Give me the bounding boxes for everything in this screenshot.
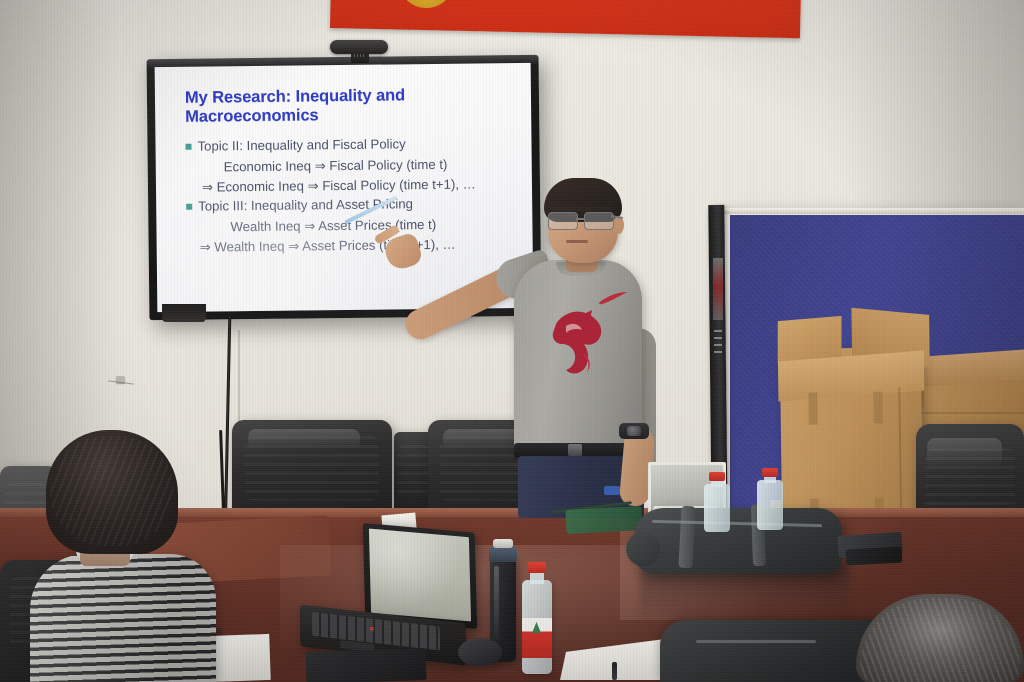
pen[interactable] — [612, 662, 617, 680]
belt-buckle — [568, 444, 582, 456]
webcam-soundbar-icon — [330, 40, 388, 54]
wsu-cougar-logo — [550, 306, 608, 376]
noticeboard-top-frame — [722, 208, 1024, 214]
cougar-head-icon — [550, 306, 608, 376]
slide-bullet-heading-row: Topic III: Inequality and Asset Pricing — [186, 194, 518, 216]
slide-bullet-heading-row: Topic II: Inequality and Fiscal Policy — [185, 134, 517, 156]
box-tape — [808, 392, 817, 424]
presenter-mouth — [566, 240, 588, 243]
cardboard-box-main — [780, 347, 923, 529]
duffel-end-cap — [626, 532, 660, 566]
laptop-screen-glare — [369, 529, 471, 622]
noticeboard-spine-dots — [714, 330, 722, 356]
thermos-lid — [493, 539, 513, 548]
laptop-screen — [369, 529, 471, 622]
slide-bullet-group: Topic II: Inequality and Fiscal Policy E… — [185, 134, 518, 197]
striped-shirt-shading — [30, 554, 216, 682]
eyeglasses-icon — [546, 212, 620, 229]
trackpoint-icon[interactable] — [370, 627, 374, 631]
bottle-cap — [528, 562, 546, 573]
box-tape — [873, 392, 882, 424]
water-bottle-front[interactable] — [522, 566, 552, 674]
duffel-bag[interactable] — [634, 508, 842, 574]
nike-swoosh-icon — [598, 292, 628, 305]
slide-title: My Research: Inequality and Macroeconomi… — [185, 85, 517, 127]
bottle-cap — [762, 468, 778, 477]
attendee-hair-strands — [50, 436, 174, 546]
slide-bullet-list: Topic II: Inequality and Fiscal Policy E… — [185, 134, 518, 257]
duffel-strap — [678, 506, 695, 569]
bottle-body — [757, 480, 783, 530]
backpack-pocket — [690, 638, 820, 672]
slide-sub-line: ⇒ Wealth Ineq ⇒ Asset Prices (time t+1),… — [187, 235, 519, 257]
box-flap-left — [778, 316, 842, 364]
bottle-cap — [709, 472, 725, 481]
smartphone[interactable] — [846, 547, 903, 566]
thermos-cap — [489, 546, 517, 562]
chair-gloss — [248, 429, 360, 449]
water-bottle-right-2[interactable] — [757, 470, 783, 528]
seated-attendee-left — [24, 430, 224, 682]
conference-room-photo: My Research: Inequality and Macroeconomi… — [0, 0, 1024, 682]
wall-mount-bracket — [162, 304, 206, 322]
chair-gloss — [927, 438, 1003, 469]
slide-content: My Research: Inequality and Macroeconomi… — [185, 85, 519, 258]
slide-bullet-heading: Topic II: Inequality and Fiscal Policy — [197, 136, 405, 157]
webcam-lens-dots — [354, 54, 366, 57]
thermos-gloss — [494, 566, 499, 646]
laptop-keyboard[interactable] — [312, 612, 440, 651]
noticeboard-spine-marking — [713, 258, 723, 320]
slide-bullet-group: Topic III: Inequality and Asset Pricing … — [186, 194, 519, 257]
notebook[interactable] — [305, 648, 426, 682]
slide-sub-line: Economic Ineq ⇒ Fiscal Policy (time t) — [186, 155, 518, 177]
bullet-square-icon — [186, 204, 192, 210]
duffel-reflection — [640, 566, 850, 626]
blue-cable-connector — [604, 486, 620, 495]
bullet-square-icon — [185, 144, 191, 150]
seated-attendee-right — [856, 588, 1024, 682]
backpack-zipper — [696, 640, 816, 643]
water-bottle-right-1[interactable] — [704, 474, 730, 530]
eyeglass-bridge — [576, 218, 584, 220]
bottle-body — [704, 484, 730, 532]
computer-mouse[interactable] — [458, 638, 502, 666]
box-edge — [898, 387, 902, 527]
duffel-zipper — [652, 520, 822, 527]
slide-sub-line: ⇒ Economic Ineq ⇒ Fiscal Policy (time t+… — [186, 175, 518, 197]
green-desk-mat — [565, 506, 642, 534]
wall-hook — [108, 374, 134, 386]
presenter-eyebrows — [552, 207, 612, 211]
thinkpad-laptop[interactable] — [296, 528, 480, 658]
eyeglass-lens-left — [548, 212, 578, 230]
wristwatch-icon — [619, 423, 649, 439]
eyeglass-lens-right — [584, 212, 614, 230]
